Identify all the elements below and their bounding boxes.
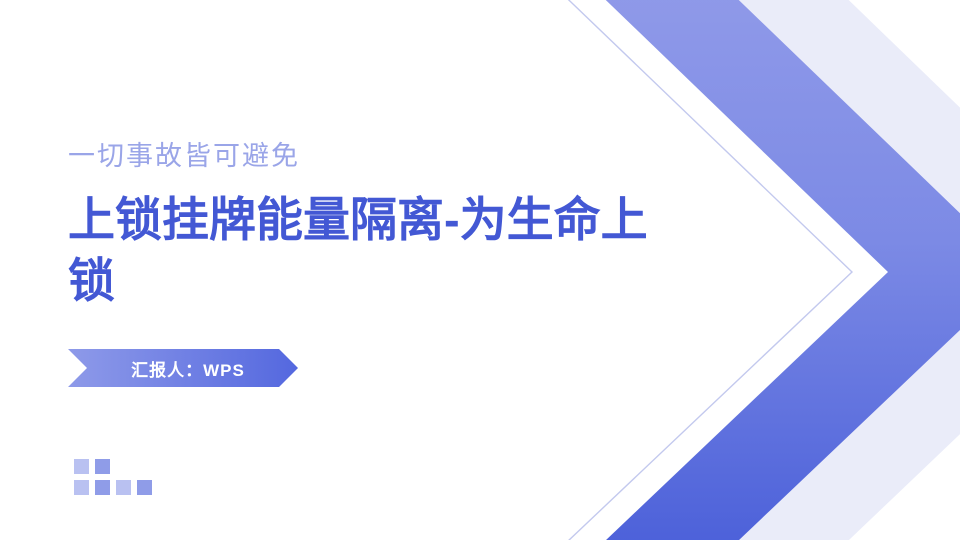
decorative-dots-grid — [74, 459, 152, 495]
title-slide: 一切事故皆可避免 上锁挂牌能量隔离-为生命上锁 汇报人：WPS — [0, 0, 960, 540]
dot-1 — [74, 459, 89, 474]
page-title: 上锁挂牌能量隔离-为生命上锁 — [68, 190, 668, 310]
eyebrow-text: 一切事故皆可避免 — [68, 140, 668, 172]
presenter-badge: 汇报人：WPS — [68, 349, 298, 387]
dot-3 — [116, 459, 131, 474]
dot-8 — [137, 480, 152, 495]
presenter-label: 汇报人：WPS — [68, 349, 298, 387]
dot-2 — [95, 459, 110, 474]
title-text-block: 一切事故皆可避免 上锁挂牌能量隔离-为生命上锁 — [68, 140, 668, 311]
chevron-right-pale — [698, 0, 960, 540]
dot-4 — [137, 459, 152, 474]
dot-6 — [95, 480, 110, 495]
dot-7 — [116, 480, 131, 495]
dot-5 — [74, 480, 89, 495]
